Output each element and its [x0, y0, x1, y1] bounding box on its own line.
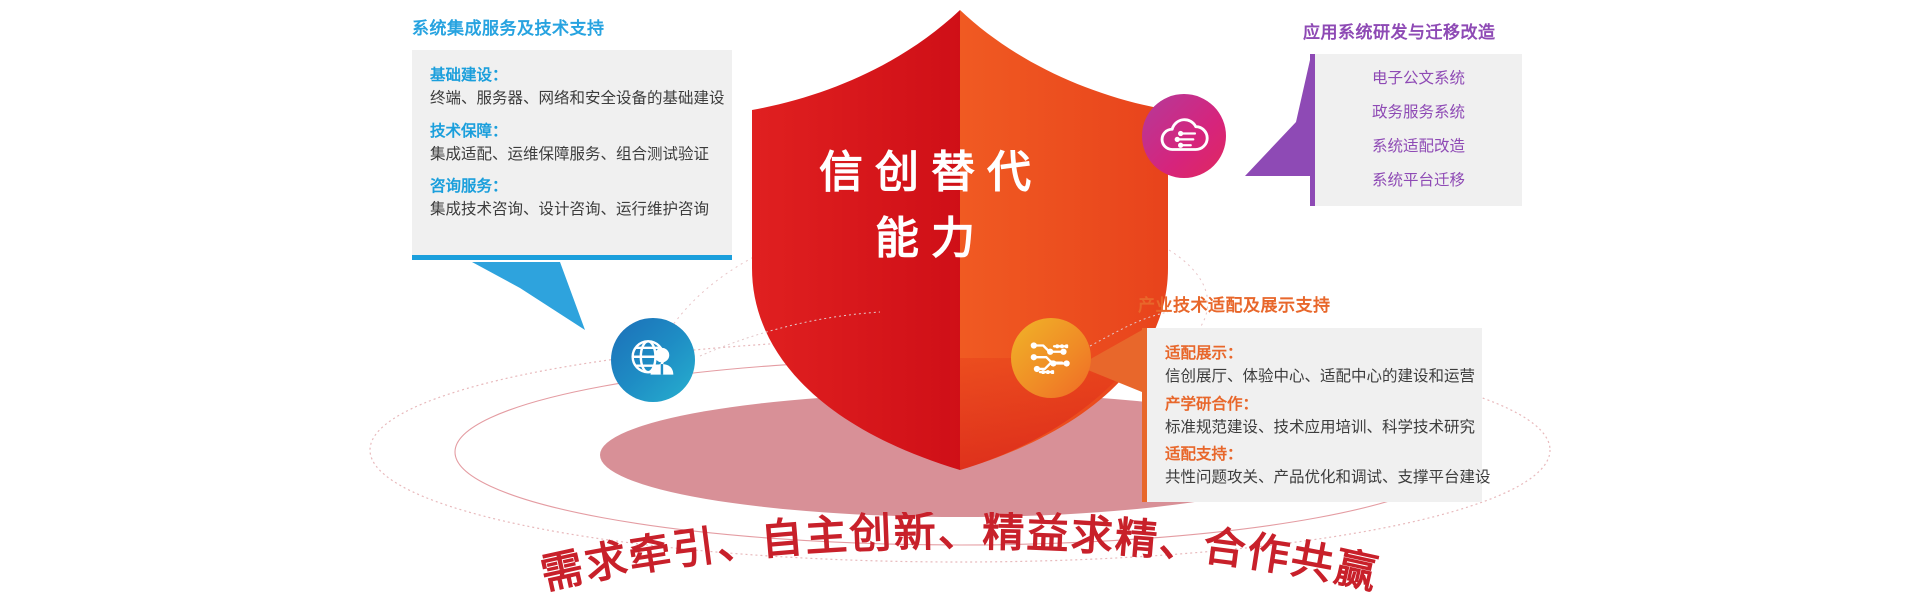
badge-circuit-chip[interactable] [1011, 318, 1091, 398]
shield-main-title: 信创替代 能力 [760, 140, 1090, 272]
panel-bottom-group-3-label: 适配支持： [1165, 443, 1464, 466]
panel-left-group-1-text: 终端、服务器、网络和安全设备的基础建设 [430, 87, 714, 110]
badge-cloud-network[interactable] [1142, 94, 1226, 178]
panel-bottom-group-1: 适配展示： 信创展厅、体验中心、适配中心的建设和运营 [1165, 342, 1464, 389]
callout-arrow-left [472, 262, 585, 330]
panel-bottom-group-2-text: 标准规范建设、技术应用培训、科学技术研究 [1165, 416, 1464, 439]
shield-title-line2: 能力 [760, 206, 1090, 272]
panel-bottom-title: 产业技术适配及展示支持 [1138, 291, 1331, 316]
panel-left-body: 基础建设： 终端、服务器、网络和安全设备的基础建设 技术保障： 集成适配、运维保… [412, 50, 732, 236]
panel-left-group-3: 咨询服务： 集成技术咨询、设计咨询、运行维护咨询 [430, 175, 714, 222]
shield-title-line1: 信创替代 [819, 148, 1043, 197]
circuit-chip-icon [1026, 333, 1076, 383]
panel-left-group-3-text: 集成技术咨询、设计咨询、运行维护咨询 [430, 198, 714, 221]
panel-industry-adaptation[interactable]: 适配展示： 信创展厅、体验中心、适配中心的建设和运营 产学研合作： 标准规范建设… [1142, 328, 1482, 502]
panel-bottom-group-1-label: 适配展示： [1165, 342, 1464, 365]
panel-bottom-group-3-text: 共性问题攻关、产品优化和调试、支撑平台建设 [1165, 466, 1464, 489]
cloud-network-icon [1157, 109, 1211, 163]
panel-left-title: 系统集成服务及技术支持 [412, 14, 605, 39]
bottom-tagline: 需求牵引、自主创新、精益求精、合作共赢 [0, 512, 1920, 602]
badge-globe-person[interactable] [611, 318, 695, 402]
panel-bottom-group-2-label: 产学研合作： [1165, 393, 1464, 416]
panel-right-body: 电子公文系统 政务服务系统 系统适配改造 系统平台迁移 [1315, 54, 1522, 206]
tagline-text: 需求牵引、自主创新、精益求精、合作共赢 [537, 512, 1383, 599]
panel-left-group-1-label: 基础建设： [430, 64, 714, 87]
infographic-canvas: 信创替代 能力 系统集成服务及技术支持 基础建设： 终端、服务器、网络和安全设备… [0, 0, 1920, 605]
panel-right-item-4[interactable]: 系统平台迁移 [1325, 164, 1512, 198]
panel-bottom-group-1-text: 信创展厅、体验中心、适配中心的建设和运营 [1165, 365, 1464, 388]
panel-bottom-body: 适配展示： 信创展厅、体验中心、适配中心的建设和运营 产学研合作： 标准规范建设… [1147, 328, 1482, 508]
panel-right-item-3[interactable]: 系统适配改造 [1325, 130, 1512, 164]
panel-left-group-3-label: 咨询服务： [430, 175, 714, 198]
panel-system-integration[interactable]: 基础建设： 终端、服务器、网络和安全设备的基础建设 技术保障： 集成适配、运维保… [412, 50, 732, 260]
panel-bottom-group-3: 适配支持： 共性问题攻关、产品优化和调试、支撑平台建设 [1165, 443, 1464, 490]
panel-left-group-2-label: 技术保障： [430, 120, 714, 143]
panel-left-group-2-text: 集成适配、运维保障服务、组合测试验证 [430, 143, 714, 166]
panel-right-title: 应用系统研发与迁移改造 [1303, 18, 1496, 43]
globe-person-icon [627, 334, 679, 386]
panel-app-migration[interactable]: 电子公文系统 政务服务系统 系统适配改造 系统平台迁移 [1310, 54, 1522, 206]
callout-arrow-right [1245, 60, 1310, 176]
panel-right-item-2[interactable]: 政务服务系统 [1325, 96, 1512, 130]
panel-left-group-2: 技术保障： 集成适配、运维保障服务、组合测试验证 [430, 120, 714, 167]
leader-line-globe [700, 312, 880, 356]
panel-right-item-1[interactable]: 电子公文系统 [1325, 62, 1512, 96]
panel-bottom-group-2: 产学研合作： 标准规范建设、技术应用培训、科学技术研究 [1165, 393, 1464, 440]
panel-left-group-1: 基础建设： 终端、服务器、网络和安全设备的基础建设 [430, 64, 714, 111]
